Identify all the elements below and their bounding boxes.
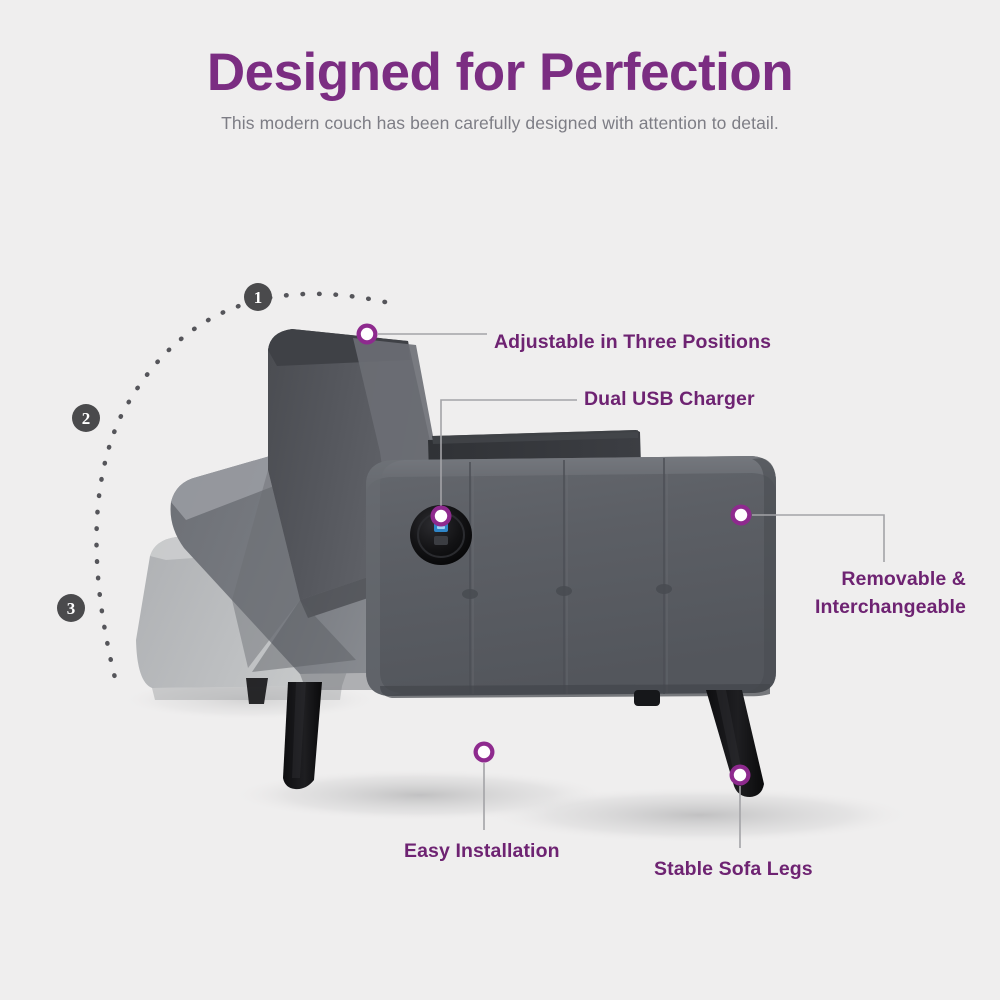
leader-line-usb xyxy=(441,400,577,507)
callout-label-usb: Dual USB Charger xyxy=(584,386,755,414)
marker-dot-usb[interactable] xyxy=(431,506,452,527)
step-badge-1: 1 xyxy=(244,283,272,311)
step-badge-2: 2 xyxy=(72,404,100,432)
marker-dot-removable[interactable] xyxy=(731,505,752,526)
callout-label-adjustable: Adjustable in Three Positions xyxy=(494,329,771,357)
callout-label-legs: Stable Sofa Legs xyxy=(654,856,813,884)
step-badge-3: 3 xyxy=(57,594,85,622)
marker-dot-legs[interactable] xyxy=(730,765,751,786)
callout-label-easy: Easy Installation xyxy=(404,838,560,866)
leader-line-removable xyxy=(752,515,884,562)
marker-dot-easy[interactable] xyxy=(474,742,495,763)
adjustment-arc xyxy=(96,294,385,690)
product-infographic: Designed for Perfection This modern couc… xyxy=(0,0,1000,1000)
callout-label-removable: Removable & Interchangeable xyxy=(738,566,966,621)
marker-dot-adjustable[interactable] xyxy=(357,324,378,345)
